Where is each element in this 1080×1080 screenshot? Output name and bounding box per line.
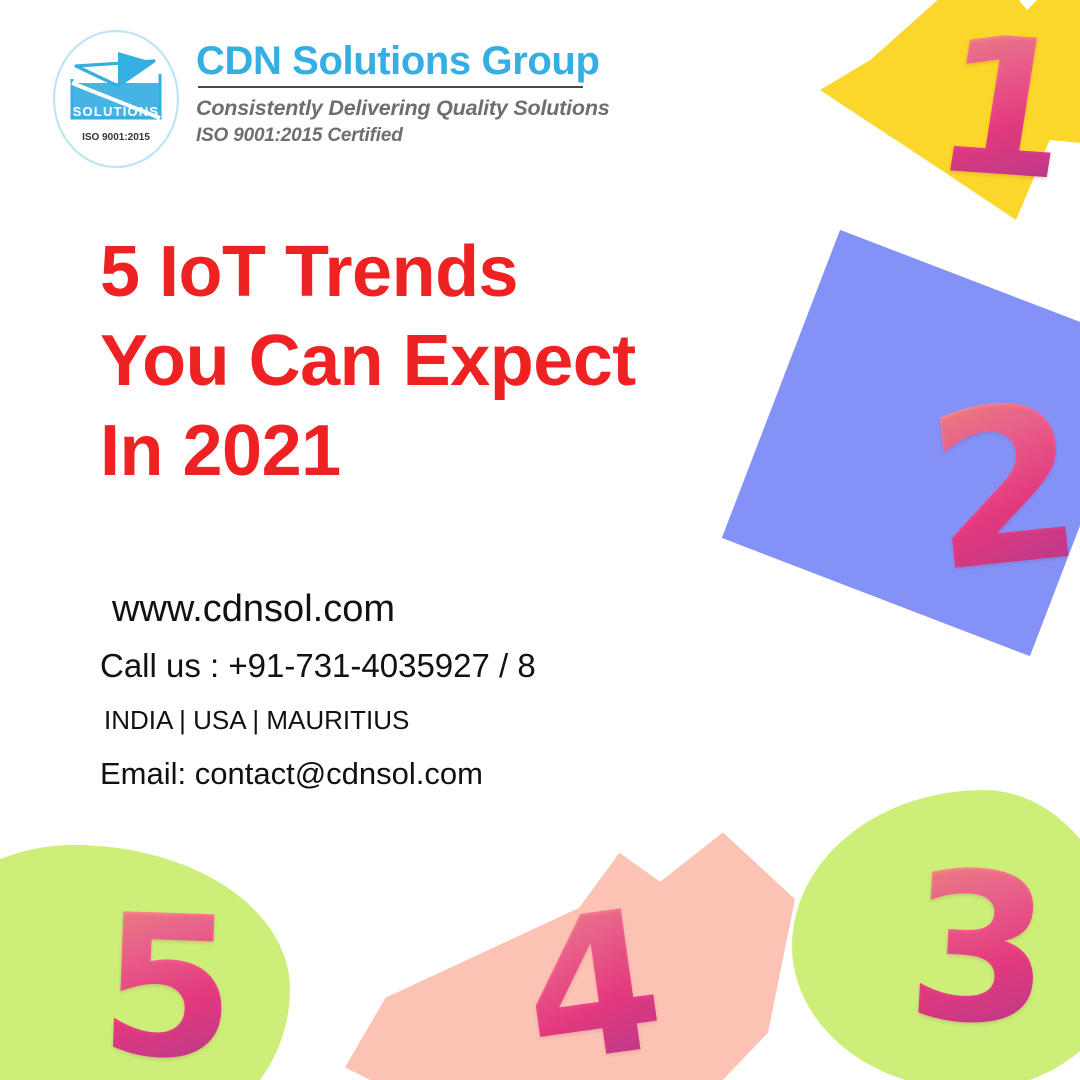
yellow-notched-shape (820, 0, 1080, 220)
decorative-numeral-5: 5 (97, 888, 239, 1080)
email-address[interactable]: Email: contact@cdnsol.com (100, 756, 536, 792)
decorative-numeral-3: 3 (903, 844, 1056, 1056)
emblem-iso-text: ISO 9001:2015 (82, 132, 150, 143)
decorative-numeral-1: 1 (923, 10, 1080, 208)
cdn-logo-emblem-icon: SOLUTIONS ISO 9001:2015 (46, 26, 190, 176)
phone-number[interactable]: Call us : +91-731-4035927 / 8 (100, 647, 536, 685)
periwinkle-square-shape (722, 230, 1080, 656)
headline-line-1: 5 IoT Trends (100, 228, 636, 317)
contact-block: www.cdnsol.com Call us : +91-731-4035927… (100, 588, 536, 792)
headline-line-2: You Can Expect (100, 317, 636, 406)
decorative-numeral-4: 4 (512, 882, 674, 1080)
website-url[interactable]: www.cdnsol.com (112, 588, 536, 631)
headline-line-3: In 2021 (100, 407, 636, 496)
green-blob-shape-left (0, 845, 290, 1080)
company-logo: SOLUTIONS ISO 9001:2015 CDN Solutions Gr… (46, 26, 610, 176)
logo-text-block: CDN Solutions Group Consistently Deliver… (196, 26, 610, 147)
decorative-numeral-2: 2 (919, 373, 1080, 602)
green-blob-shape-right (792, 790, 1080, 1080)
social-media-poster: 1 2 3 4 5 SOLUTIONS ISO 9001:2015 CDN So… (0, 0, 1080, 1080)
logo-divider (198, 86, 583, 88)
office-locations: INDIA | USA | MAURITIUS (104, 705, 536, 736)
iso-certification-line: ISO 9001:2015 Certified (196, 125, 610, 147)
company-tagline: Consistently Delivering Quality Solution… (196, 94, 610, 122)
peach-angular-shape (345, 818, 795, 1080)
emblem-wordmark: SOLUTIONS (73, 104, 160, 119)
headline: 5 IoT Trends You Can Expect In 2021 (100, 228, 636, 496)
company-name: CDN Solutions Group (196, 40, 610, 82)
